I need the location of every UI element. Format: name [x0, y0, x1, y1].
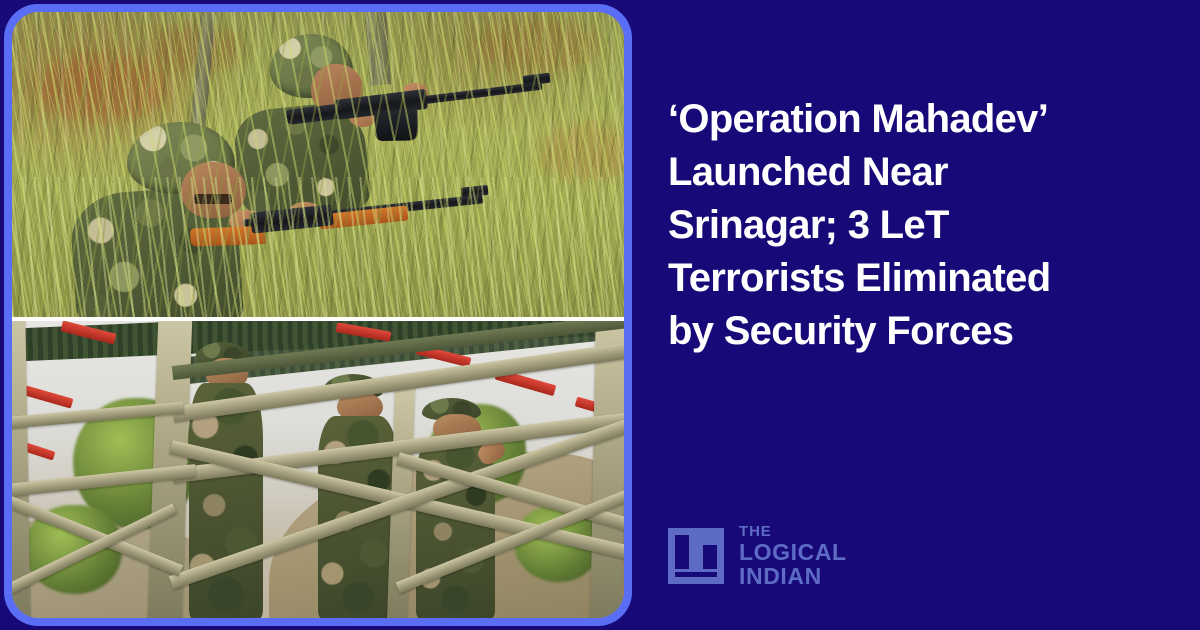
monogram-cut: [675, 572, 717, 577]
headline-line-5: by Security Forces: [668, 305, 1138, 358]
headline-line-2: Launched Near: [668, 146, 1138, 199]
social-share-card: ‘Operation Mahadev’ Launched Near Srinag…: [0, 0, 1200, 630]
brand-wordmark-line-1: THE: [739, 524, 847, 540]
photo-bottom-watchtower: [12, 321, 624, 618]
headline-line-1: ‘Operation Mahadev’: [668, 93, 1138, 146]
monogram-cut: [703, 545, 717, 569]
photo-top-soldiers-in-grass: [12, 12, 624, 317]
photo-collage: [12, 12, 624, 618]
tower-post-vertical: [591, 321, 624, 618]
brand-wordmark-line-3: INDIAN: [739, 564, 847, 588]
rifle-front-sight: [523, 73, 551, 86]
brand-wordmark-line-2: LOGICAL: [739, 540, 847, 564]
photo-divider: [12, 317, 624, 321]
brand-logo[interactable]: THE LOGICAL INDIAN: [668, 524, 847, 589]
rifle-front-sight: [461, 185, 489, 198]
tower-wooden-frame: [12, 321, 624, 618]
logical-indian-monogram-icon: [668, 528, 724, 584]
headline: ‘Operation Mahadev’ Launched Near Srinag…: [668, 93, 1138, 358]
rifle-magazine: [374, 110, 417, 140]
monogram-cut: [675, 535, 689, 545]
headline-line-4: Terrorists Eliminated: [668, 252, 1138, 305]
content-column: ‘Operation Mahadev’ Launched Near Srinag…: [668, 0, 1168, 630]
monogram-cut: [675, 545, 689, 569]
photo-frame: [4, 4, 632, 626]
brand-wordmark: THE LOGICAL INDIAN: [739, 524, 847, 589]
headline-line-3: Srinagar; 3 LeT: [668, 199, 1138, 252]
tower-beam-horizontal: [172, 321, 624, 379]
